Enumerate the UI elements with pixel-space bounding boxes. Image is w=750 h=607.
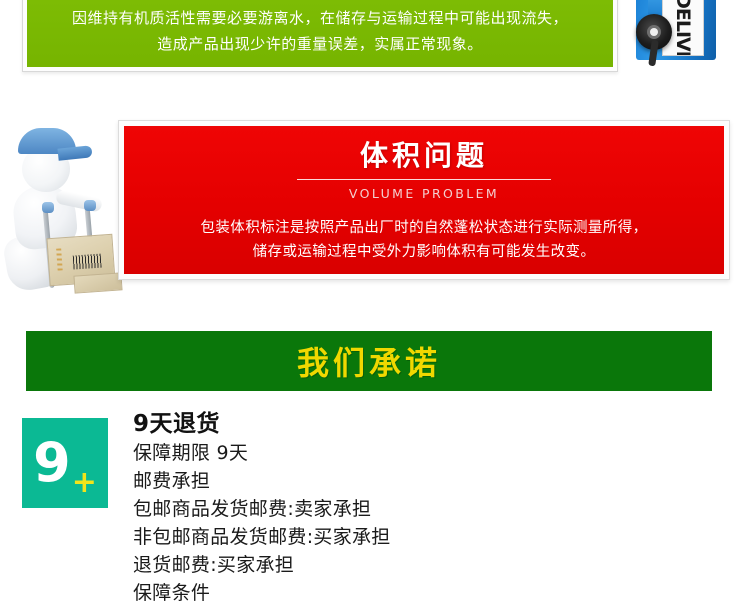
volume-problem-card: 体积问题 VOLUME PROBLEM 包装体积标注是按照产品出厂时的自然蓬松状… (118, 120, 730, 280)
hand-truck-grip-right (84, 200, 96, 211)
return-policy-line-5: 退货邮费:买家承担 (133, 551, 693, 579)
delivery-worker-illustration (2, 128, 118, 290)
volume-problem-line-2: 储存或运输过程中受外力影响体积有可能发生改变。 (253, 240, 596, 264)
return-policy-line-4: 非包邮商品发货邮费:买家承担 (133, 523, 693, 551)
box-barcode (73, 254, 102, 270)
worker-cap-brim (57, 145, 92, 160)
hand-truck-grip-left (42, 202, 54, 213)
volume-problem-title: 体积问题 (360, 139, 488, 173)
free-delivery-truck-icon: FREE DELIVERY (628, 0, 724, 78)
return-policy-title: 9天退货 (133, 409, 693, 439)
green-notice-body: 因维持有机质活性需要必要游离水，在储存与运输过程中可能出现流失， 造成产品出现少… (27, 0, 613, 67)
return-policy-line-2: 邮费承担 (133, 467, 693, 495)
green-notice-line-2: 造成产品出现少许的重量误差，实属正常现象。 (157, 31, 483, 57)
return-days-plus: + (72, 468, 97, 498)
truck-label: FREE DELIVERY (672, 0, 694, 56)
green-notice-card: 因维持有机质活性需要必要游离水，在储存与运输过程中可能出现流失， 造成产品出现少… (22, 0, 618, 72)
return-days-number: 9 (33, 436, 71, 490)
return-policy-line-3: 包邮商品发货邮费:卖家承担 (133, 495, 693, 523)
volume-problem-subtitle: VOLUME PROBLEM (349, 186, 499, 202)
box-tape (56, 248, 63, 270)
promise-banner: 我们承诺 (26, 331, 712, 391)
return-days-badge: 9 + (22, 418, 108, 508)
volume-divider (297, 179, 551, 180)
return-policy-block: 9天退货 保障期限 9天 邮费承担 包邮商品发货邮费:卖家承担 非包邮商品发货邮… (133, 409, 693, 607)
cardboard-box-bottom (73, 272, 122, 293)
product-detail-page: 因维持有机质活性需要必要游离水，在储存与运输过程中可能出现流失， 造成产品出现少… (0, 0, 750, 587)
green-notice-line-1: 因维持有机质活性需要必要游离水，在储存与运输过程中可能出现流失， (72, 5, 568, 31)
return-policy-line-1: 保障期限 9天 (133, 439, 693, 467)
promise-title: 我们承诺 (297, 338, 441, 384)
return-policy-line-6: 保障条件 (133, 579, 693, 607)
volume-problem-body: 体积问题 VOLUME PROBLEM 包装体积标注是按照产品出厂时的自然蓬松状… (124, 126, 724, 274)
truck-wheel-hub (650, 28, 658, 36)
volume-problem-line-1: 包装体积标注是按照产品出厂时的自然蓬松状态进行实际测量所得， (201, 216, 648, 240)
